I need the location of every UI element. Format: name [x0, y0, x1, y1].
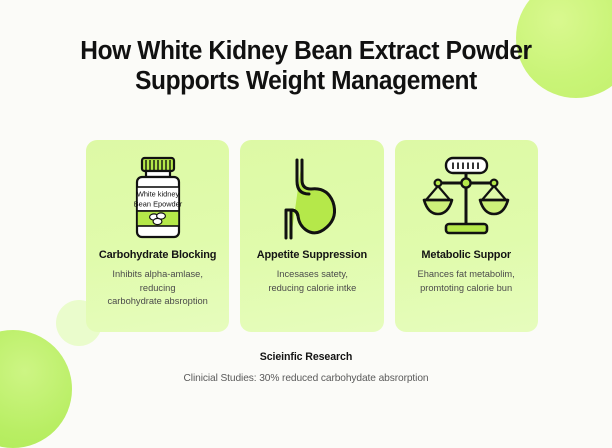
benefit-card-title: Metabolic Suppor — [422, 249, 512, 261]
benefit-card-description-line-2: carbohydrate absroption — [107, 296, 207, 307]
benefit-card-description: Inhibits alpha-amlase, reducing carbohyd… — [88, 268, 227, 309]
stomach-icon — [275, 151, 349, 247]
benefit-cards: White kidney Bean Epowder Carbohydrate B… — [86, 140, 538, 332]
benefit-card-description-line-2: promtoting calorie bun — [420, 283, 512, 294]
benefit-card-description-line-1: Inhibits alpha-amlase, reducing — [112, 269, 203, 294]
benefit-card-description: Ehances fat metabolim, promtoting calori… — [411, 268, 522, 295]
svg-text:Bean Epowder: Bean Epowder — [133, 200, 182, 209]
benefit-card-carbohydrate-blocking[interactable]: White kidney Bean Epowder Carbohydrate B… — [86, 140, 229, 332]
benefit-card-metabolic-support[interactable]: Metabolic Suppor Ehances fat metabolim, … — [395, 140, 538, 332]
page-title-line-1: How White Kidney Bean Extract Powder — [12, 36, 600, 66]
footer-subtitle: Clinicial Studies: 30% reduced carbohyda… — [0, 373, 612, 384]
decorative-circle-bottom-left — [0, 330, 72, 448]
page-title: How White Kidney Bean Extract Powder Sup… — [0, 36, 612, 96]
benefit-card-description: Incesases satety, reducing calorie intke — [261, 268, 363, 295]
svg-text:White kidney: White kidney — [137, 190, 180, 199]
benefit-card-title: Appetite Suppression — [257, 249, 367, 261]
benefit-card-title: Carbohydrate Blocking — [99, 249, 217, 261]
benefit-card-description-line-1: Ehances fat metabolim, — [418, 269, 515, 280]
page-title-line-2: Supports Weight Management — [12, 66, 600, 96]
supplement-bottle-icon: White kidney Bean Epowder — [126, 151, 190, 247]
benefit-card-description-line-1: Incesases satety, — [276, 269, 347, 280]
footer: Scieinfic Research Clinicial Studies: 30… — [0, 351, 612, 384]
footer-title: Scieinfic Research — [0, 351, 612, 363]
benefit-card-description-line-2: reducing calorie intke — [268, 283, 356, 294]
benefit-card-appetite-suppression[interactable]: Appetite Suppression Incesases satety, r… — [240, 140, 383, 332]
balance-scale-icon — [418, 151, 514, 247]
